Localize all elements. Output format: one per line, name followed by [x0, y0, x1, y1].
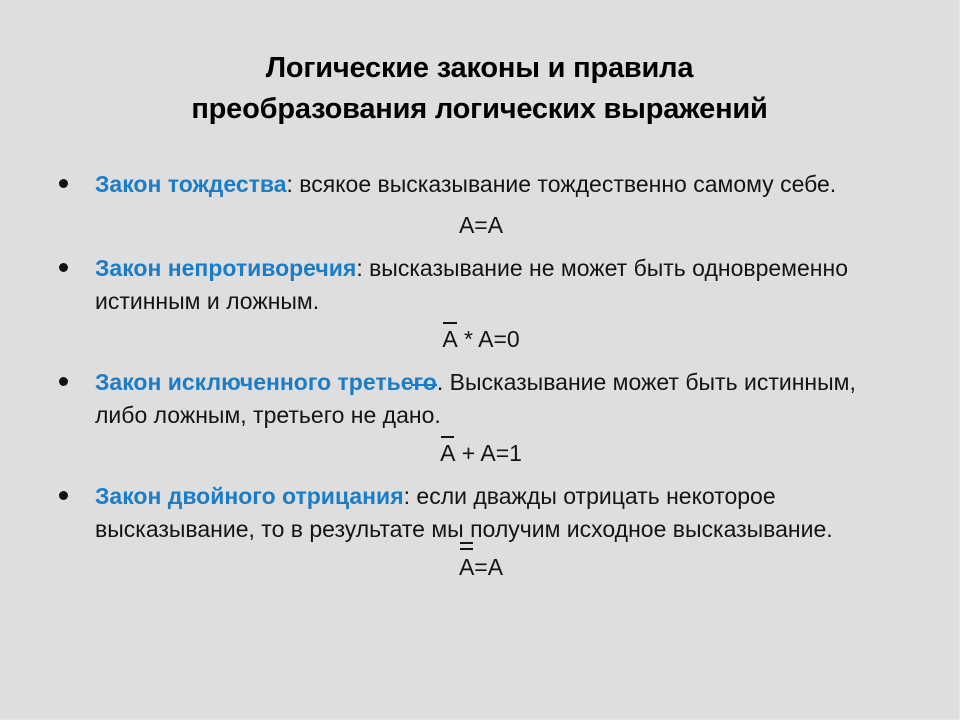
formula-row: A * A=0: [52, 318, 910, 356]
formula-expression: A=A: [459, 551, 503, 584]
overline-term: A: [440, 437, 455, 470]
list-item: Закон тождества: всякое высказывание тож…: [52, 168, 910, 201]
law-text: Закон непротиворечия: высказывание не мо…: [95, 252, 865, 318]
formula-expression: A + A=1: [440, 437, 522, 470]
bullet-icon: [59, 377, 68, 386]
law-name: Закон тождества: [95, 171, 287, 197]
bullet-icon: [59, 263, 68, 272]
formula-tail: + A=1: [455, 440, 522, 466]
law-description: : всякое высказывание тождественно самом…: [287, 171, 837, 197]
formula-row: A=A: [52, 546, 910, 584]
slide-canvas: Логические законы и правила преобразован…: [0, 0, 960, 720]
overline-term: A: [442, 323, 457, 356]
formula-expression: A * A=0: [442, 323, 519, 356]
double-overline-term: A: [459, 551, 474, 584]
law-name: Закон непротиворечия: [95, 255, 356, 281]
formula-tail: =A: [474, 554, 503, 580]
law-text: Закон двойного отрицания: если дважды от…: [95, 480, 865, 546]
law-text: Закон исключенного третьего. Высказывани…: [95, 366, 865, 432]
bullet-icon: [59, 491, 68, 500]
page-title-line-2: преобразования логических выражений: [60, 89, 899, 130]
list-item: Закон исключенного третьего. Высказывани…: [52, 366, 910, 432]
law-text: Закон тождества: всякое высказывание тож…: [95, 168, 865, 201]
formula-tail: * A=0: [458, 326, 520, 352]
formula-row: A=A: [52, 201, 910, 242]
page-title-line-1: Логические законы и правила: [60, 48, 899, 89]
list-item: Закон непротиворечия: высказывание не мо…: [52, 252, 910, 318]
page-title: Логические законы и правила преобразован…: [0, 48, 959, 130]
formula-row: A + A=1: [52, 432, 910, 470]
law-name: Закон двойного отрицания: [95, 483, 404, 509]
bullet-icon: [59, 179, 68, 188]
formula-expression: A=A: [459, 209, 503, 242]
laws-list: Закон тождества: всякое высказывание тож…: [52, 168, 910, 584]
list-item: Закон двойного отрицания: если дважды от…: [52, 480, 910, 546]
law-name: Закон исключенного третьего: [95, 369, 437, 395]
